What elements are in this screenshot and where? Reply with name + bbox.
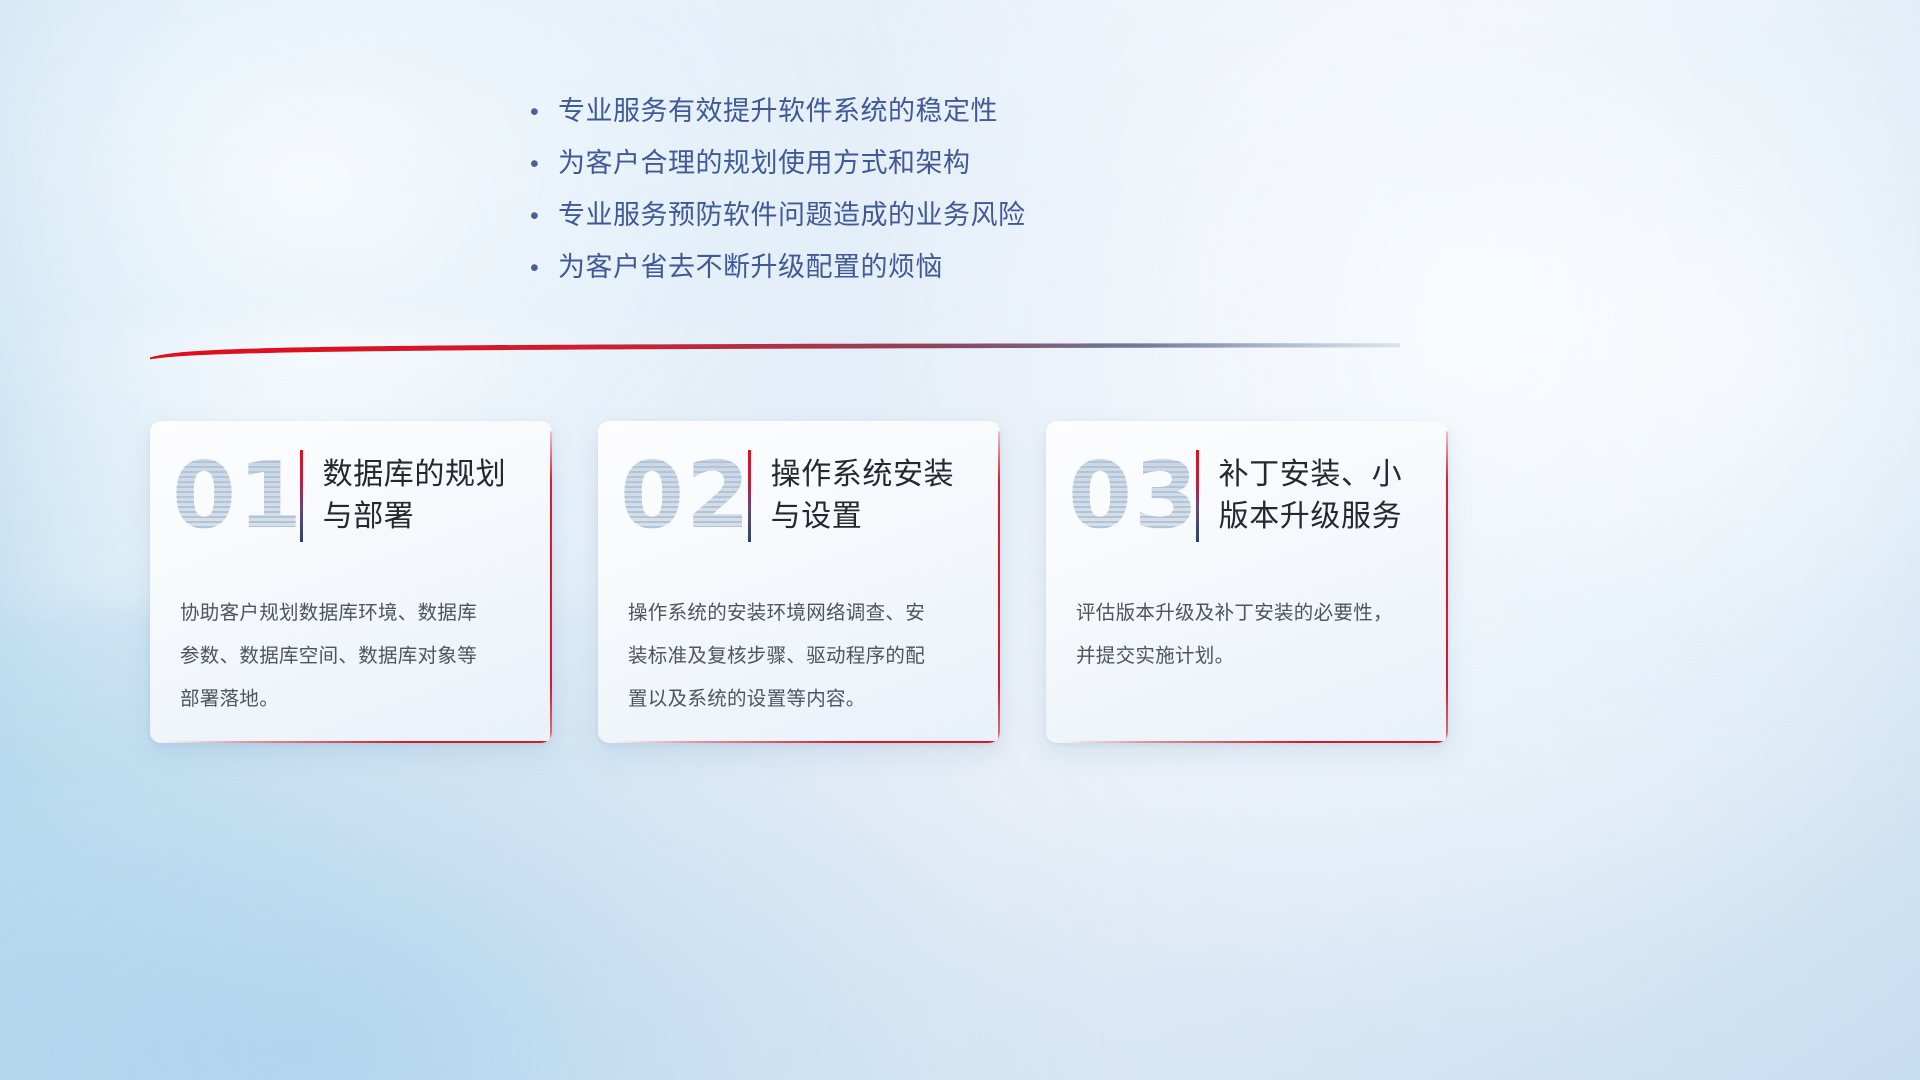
service-card-01[interactable]: 01 数据库的规划 与部署 协助客户规划数据库环境、数据库 参数、数据库空间、数… — [150, 421, 552, 743]
bullet-item-text: 为客户合理的规划使用方式和架构 — [558, 144, 971, 184]
card-body-line: 并提交实施计划。 — [1076, 634, 1418, 677]
card-body-line: 参数、数据库空间、数据库对象等 — [180, 634, 522, 677]
list-item: • 为客户合理的规划使用方式和架构 — [530, 144, 1250, 196]
card-body: 操作系统的安装环境网络调查、安 装标准及复核步骤、驱动程序的配 置以及系统的设置… — [598, 571, 1000, 720]
list-item: • 为客户省去不断升级配置的烦恼 — [530, 248, 1250, 300]
card-body-line: 操作系统的安装环境网络调查、安 — [628, 591, 970, 634]
card-title-line: 版本升级服务 — [1219, 496, 1403, 538]
card-accent-bottom — [614, 741, 1000, 743]
card-body-line: 部署落地。 — [180, 677, 522, 720]
service-card-02[interactable]: 02 操作系统安装 与设置 操作系统的安装环境网络调查、安 装标准及复核步骤、驱… — [598, 421, 1000, 743]
card-accent-bottom — [166, 741, 552, 743]
service-cards-row: 01 数据库的规划 与部署 协助客户规划数据库环境、数据库 参数、数据库空间、数… — [150, 421, 1450, 743]
card-body: 协助客户规划数据库环境、数据库 参数、数据库空间、数据库对象等 部署落地。 — [150, 571, 552, 720]
card-title-line: 操作系统安装 — [771, 454, 955, 496]
bullet-dot-icon: • — [530, 196, 558, 236]
card-title-line: 数据库的规划 — [323, 454, 507, 496]
list-item: • 专业服务有效提升软件系统的稳定性 — [530, 92, 1250, 144]
card-body-line: 装标准及复核步骤、驱动程序的配 — [628, 634, 970, 677]
card-title-line: 补丁安装、小 — [1219, 454, 1403, 496]
card-title-line: 与设置 — [771, 496, 955, 538]
card-header: 01 数据库的规划 与部署 — [150, 421, 552, 571]
bullet-dot-icon: • — [530, 248, 558, 288]
card-number: 02 — [620, 441, 744, 551]
card-title: 数据库的规划 与部署 — [323, 454, 507, 538]
bullet-item-text: 专业服务有效提升软件系统的稳定性 — [558, 92, 998, 132]
card-body-line: 协助客户规划数据库环境、数据库 — [180, 591, 522, 634]
tapered-rule-icon — [150, 340, 1400, 362]
card-title-line: 与部署 — [323, 496, 507, 538]
list-item: • 专业服务预防软件问题造成的业务风险 — [530, 196, 1250, 248]
service-card-03[interactable]: 03 补丁安装、小 版本升级服务 评估版本升级及补丁安装的必要性， 并提交实施计… — [1046, 421, 1448, 743]
card-number: 03 — [1068, 441, 1192, 551]
bullet-item-text: 专业服务预防软件问题造成的业务风险 — [558, 196, 1026, 236]
card-body-line: 评估版本升级及补丁安装的必要性， — [1076, 591, 1418, 634]
bullet-dot-icon: • — [530, 144, 558, 184]
card-title: 补丁安装、小 版本升级服务 — [1219, 454, 1403, 538]
benefits-bullet-list: • 专业服务有效提升软件系统的稳定性 • 为客户合理的规划使用方式和架构 • 专… — [530, 92, 1250, 300]
card-body-line: 置以及系统的设置等内容。 — [628, 677, 970, 720]
bullet-dot-icon: • — [530, 92, 558, 132]
card-header: 03 补丁安装、小 版本升级服务 — [1046, 421, 1448, 571]
card-accent-bottom — [1062, 741, 1448, 743]
slide-canvas: • 专业服务有效提升软件系统的稳定性 • 为客户合理的规划使用方式和架构 • 专… — [0, 0, 1920, 1080]
card-header: 02 操作系统安装 与设置 — [598, 421, 1000, 571]
bullet-item-text: 为客户省去不断升级配置的烦恼 — [558, 248, 943, 288]
section-divider — [150, 340, 1400, 362]
card-number: 01 — [172, 441, 296, 551]
card-body: 评估版本升级及补丁安装的必要性， 并提交实施计划。 — [1046, 571, 1448, 677]
card-title: 操作系统安装 与设置 — [771, 454, 955, 538]
